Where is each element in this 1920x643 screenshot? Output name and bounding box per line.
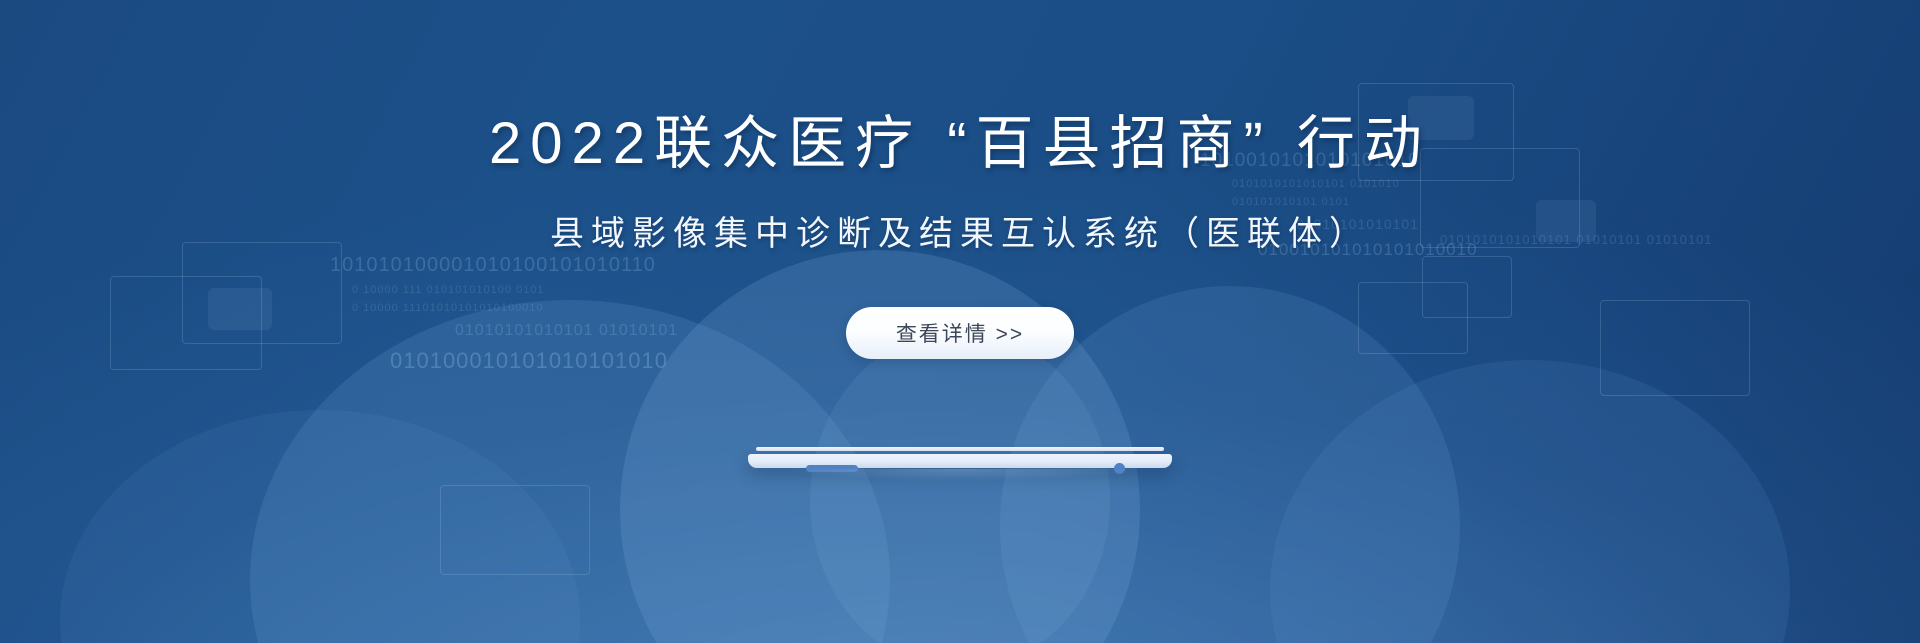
promo-banner: 101010100001010100101010110 0 10000 111 … — [0, 0, 1920, 643]
view-details-button[interactable]: 查看详情 >> — [846, 307, 1074, 359]
laptop-screen-edge — [756, 447, 1164, 451]
laptop-base — [748, 447, 1172, 471]
banner-subtitle: 县域影像集中诊断及结果互认系统（医联体） — [550, 206, 1370, 255]
laptop-body — [748, 454, 1172, 468]
banner-content: 2022联众医疗 “百县招商” 行动 县域影像集中诊断及结果互认系统（医联体） … — [0, 0, 1920, 643]
banner-title: 2022联众医疗 “百县招商” 行动 — [489, 96, 1431, 180]
laptop-reflection — [766, 469, 1154, 485]
